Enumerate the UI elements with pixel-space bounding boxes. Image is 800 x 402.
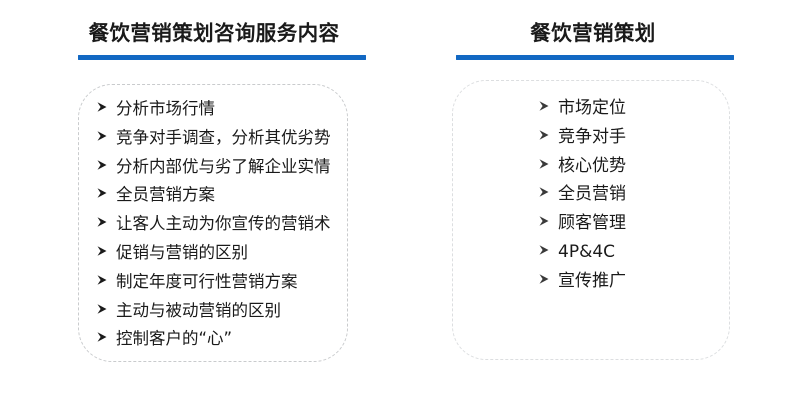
list-item-label: 分析内部优与劣了解企业实情	[116, 159, 331, 176]
list-item[interactable]: 分析内部优与劣了解企业实情	[96, 159, 331, 188]
arrow-chevron-icon	[96, 331, 116, 343]
arrow-chevron-icon	[96, 130, 116, 142]
arrow-chevron-icon	[538, 158, 558, 170]
panel-title-left: 餐饮营销策划咨询服务内容	[58, 18, 370, 48]
list-item[interactable]: 全员营销方案	[96, 187, 331, 216]
arrow-chevron-icon	[96, 245, 116, 257]
arrow-chevron-icon	[538, 129, 558, 141]
list-item[interactable]: 主动与被动营销的区别	[96, 303, 331, 332]
arrow-chevron-icon	[538, 186, 558, 198]
list-item-label: 全员营销方案	[116, 187, 215, 204]
list-item-label: 让客人主动为你宣传的营销术	[116, 216, 331, 233]
list-item-label: 主动与被动营销的区别	[116, 303, 281, 320]
bullet-list-left: 分析市场行情 竞争对手调查，分析其优劣势 分析内部优与劣了解企业实情	[96, 101, 331, 360]
list-item[interactable]: 竞争对手	[538, 129, 626, 158]
arrow-chevron-icon	[96, 101, 116, 113]
list-item-label: 4P&4C	[558, 244, 615, 261]
list-item[interactable]: 控制客户的“心”	[96, 331, 331, 360]
panel-service-content: 餐饮营销策划咨询服务内容	[58, 18, 370, 60]
list-item[interactable]: 市场定位	[538, 100, 626, 129]
list-item[interactable]: 制定年度可行性营销方案	[96, 274, 331, 303]
list-item[interactable]: 让客人主动为你宣传的营销术	[96, 216, 331, 245]
title-underline-right	[456, 55, 734, 60]
arrow-chevron-icon	[538, 215, 558, 227]
list-item-label: 促销与营销的区别	[116, 245, 248, 262]
title-underline-left	[78, 55, 366, 60]
slide-canvas: 餐饮营销策划咨询服务内容 分析市场行情 竞争对手调查，分析其优劣势	[0, 0, 800, 402]
list-item-label: 控制客户的“心”	[116, 331, 232, 348]
arrow-chevron-icon	[538, 244, 558, 256]
list-item[interactable]: 竞争对手调查，分析其优劣势	[96, 130, 331, 159]
list-item[interactable]: 分析市场行情	[96, 101, 331, 130]
list-item-label: 宣传推广	[558, 273, 626, 290]
list-item-label: 市场定位	[558, 100, 626, 117]
list-item-label: 竞争对手	[558, 129, 626, 146]
list-item[interactable]: 4P&4C	[538, 244, 626, 273]
list-item[interactable]: 全员营销	[538, 186, 626, 215]
list-item-label: 全员营销	[558, 186, 626, 203]
list-item-label: 竞争对手调查，分析其优劣势	[116, 130, 331, 147]
list-item-label: 顾客管理	[558, 215, 626, 232]
list-item[interactable]: 宣传推广	[538, 273, 626, 302]
list-item[interactable]: 促销与营销的区别	[96, 245, 331, 274]
panel-marketing-plan: 餐饮营销策划	[440, 18, 746, 60]
arrow-chevron-icon	[538, 273, 558, 285]
list-item[interactable]: 顾客管理	[538, 215, 626, 244]
list-item-label: 分析市场行情	[116, 101, 215, 118]
arrow-chevron-icon	[96, 274, 116, 286]
panel-title-right: 餐饮营销策划	[440, 18, 746, 48]
list-item-label: 核心优势	[558, 158, 626, 175]
bullet-list-right: 市场定位 竞争对手 核心优势 全员营销	[538, 100, 626, 302]
arrow-chevron-icon	[96, 159, 116, 171]
arrow-chevron-icon	[96, 187, 116, 199]
list-item-label: 制定年度可行性营销方案	[116, 274, 298, 291]
arrow-chevron-icon	[538, 100, 558, 112]
arrow-chevron-icon	[96, 303, 116, 315]
list-item[interactable]: 核心优势	[538, 158, 626, 187]
arrow-chevron-icon	[96, 216, 116, 228]
